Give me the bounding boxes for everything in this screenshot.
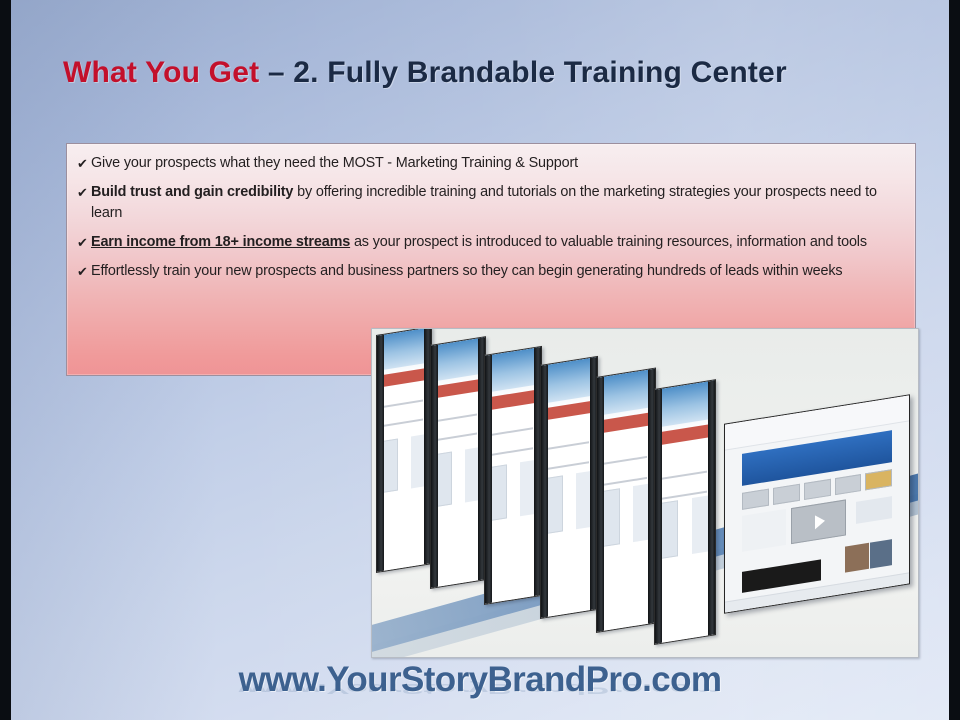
site-photo — [870, 539, 892, 569]
screen-bezel-right — [708, 380, 715, 635]
screen-line — [545, 441, 589, 450]
video-frame: What You Get – 2. Fully Brandable Traini… — [0, 0, 960, 720]
list-item: ✔Build trust and gain credibility by off… — [77, 182, 901, 224]
screen-line — [435, 433, 477, 442]
site-left-column — [742, 509, 786, 552]
slide-stage: What You Get – 2. Fully Brandable Traini… — [11, 0, 949, 720]
screen-accent-bar — [544, 401, 590, 421]
screen-line — [435, 413, 477, 422]
check-icon: ✔ — [77, 182, 88, 203]
screen-content — [597, 369, 655, 632]
screen-line — [602, 456, 647, 465]
screen-block — [602, 489, 619, 548]
screen-bezel-left — [655, 389, 662, 644]
screen-block — [382, 439, 398, 493]
page-title-highlight: What You Get — [63, 56, 259, 89]
screen-line — [381, 399, 423, 408]
site-thumbnail — [865, 469, 892, 490]
screen-block — [692, 496, 708, 554]
screen-line — [381, 418, 423, 427]
list-item-text: Give your prospects what they need the M… — [91, 155, 578, 171]
screen-sky — [377, 328, 431, 371]
screen-line — [660, 471, 707, 480]
screen-line — [545, 462, 589, 471]
screen-content — [431, 337, 485, 588]
site-thumbnail — [742, 489, 769, 510]
footer-url: www.YourStoryBrandPro.com — [11, 660, 949, 700]
site-thumbnail — [835, 474, 862, 495]
showcase-screen-1 — [376, 328, 432, 573]
screen-accent-bar — [488, 390, 534, 410]
screen-bezel-left — [485, 355, 492, 604]
screen-accent-bar — [600, 413, 648, 433]
screen-sky — [431, 337, 485, 382]
site-photo — [845, 543, 869, 573]
screen-block — [576, 471, 591, 529]
site-video-player — [791, 499, 846, 543]
screen-block — [411, 435, 425, 489]
check-icon: ✔ — [77, 232, 88, 253]
showcase-screen-4 — [540, 356, 598, 619]
showcase-screen-2 — [430, 336, 486, 589]
list-item-emphasis: Earn income from 18+ income streams — [91, 234, 350, 250]
screen-sky — [485, 347, 541, 393]
screen-line — [489, 428, 533, 437]
play-icon — [815, 514, 825, 530]
screen-content — [377, 328, 431, 572]
front-screen-website — [725, 395, 909, 612]
site-thumbnail — [773, 484, 800, 505]
screen-block — [465, 447, 479, 502]
list-item-emphasis: Build trust and gain credibility — [91, 184, 293, 200]
screen-sky — [541, 357, 597, 404]
screens-showcase-image — [371, 328, 919, 658]
list-item-text: as your prospect is introduced to valuab… — [350, 234, 867, 250]
screen-accent-bar — [434, 379, 478, 398]
screen-block — [546, 476, 563, 534]
screen-block — [490, 464, 507, 521]
screen-line — [489, 447, 533, 456]
screen-sky — [597, 369, 655, 416]
list-item: ✔Earn income from 18+ income streams as … — [77, 232, 901, 253]
list-item: ✔Effortlessly train your new prospects a… — [77, 261, 901, 282]
check-icon: ✔ — [77, 261, 88, 282]
screen-block — [633, 484, 648, 542]
screen-block — [660, 500, 678, 559]
page-title-rest: – 2. Fully Brandable Training Center — [259, 56, 787, 89]
screen-bezel-left — [377, 335, 384, 572]
showcase-screen-5 — [596, 367, 656, 633]
screen-sky — [655, 380, 715, 428]
screen-accent-bar — [659, 425, 708, 445]
screen-content — [541, 357, 597, 618]
showcase-screen-6 — [654, 379, 716, 645]
screen-bezel-left — [597, 377, 604, 632]
site-thumbnail — [804, 479, 831, 500]
screen-content — [485, 347, 541, 604]
screen-content — [655, 380, 715, 644]
screen-block — [436, 451, 452, 507]
check-icon: ✔ — [77, 153, 88, 174]
screen-accent-bar — [380, 368, 424, 387]
page-title: What You Get – 2. Fully Brandable Traini… — [63, 56, 923, 90]
site-right-column — [856, 496, 893, 524]
screen-bezel-left — [541, 365, 548, 618]
list-item-text: Effortlessly train your new prospects an… — [91, 263, 842, 279]
screen-block — [520, 460, 535, 517]
screen-bezel-left — [431, 345, 438, 588]
showcase-screen-3 — [484, 346, 542, 605]
showcase-screen-front — [724, 394, 910, 613]
list-item: ✔Give your prospects what they need the … — [77, 153, 901, 174]
